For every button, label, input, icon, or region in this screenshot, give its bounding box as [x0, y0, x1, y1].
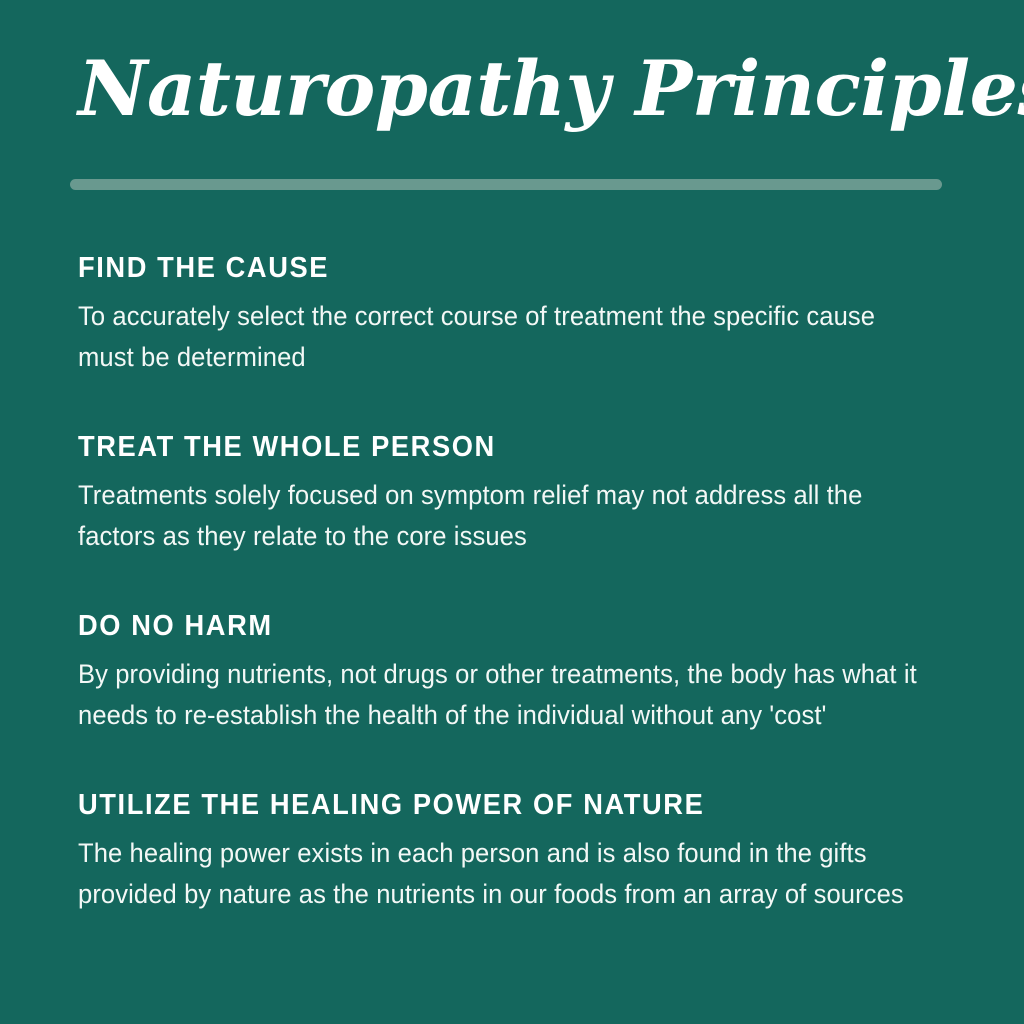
- principle-item: DO NO HARM By providing nutrients, not d…: [78, 610, 958, 736]
- principle-body: By providing nutrients, not drugs or oth…: [78, 654, 927, 736]
- principle-body: To accurately select the correct course …: [78, 296, 927, 378]
- principle-body: Treatments solely focused on symptom rel…: [78, 475, 927, 557]
- principle-heading: DO NO HARM: [78, 610, 905, 643]
- principle-heading: UTILIZE THE HEALING POWER OF NATURE: [78, 789, 905, 822]
- principle-item: UTILIZE THE HEALING POWER OF NATURE The …: [78, 789, 958, 915]
- principle-item: FIND THE CAUSE To accurately select the …: [78, 252, 958, 378]
- principle-heading: FIND THE CAUSE: [78, 252, 905, 285]
- title-divider-rule: [70, 179, 942, 190]
- principle-body: The healing power exists in each person …: [78, 833, 927, 915]
- poster-canvas: Naturopathy Principles FIND THE CAUSE To…: [0, 0, 1024, 1024]
- principles-list: FIND THE CAUSE To accurately select the …: [78, 252, 958, 915]
- page-title: Naturopathy Principles: [78, 48, 958, 130]
- principle-item: TREAT THE WHOLE PERSON Treatments solely…: [78, 431, 958, 557]
- principle-heading: TREAT THE WHOLE PERSON: [78, 431, 905, 464]
